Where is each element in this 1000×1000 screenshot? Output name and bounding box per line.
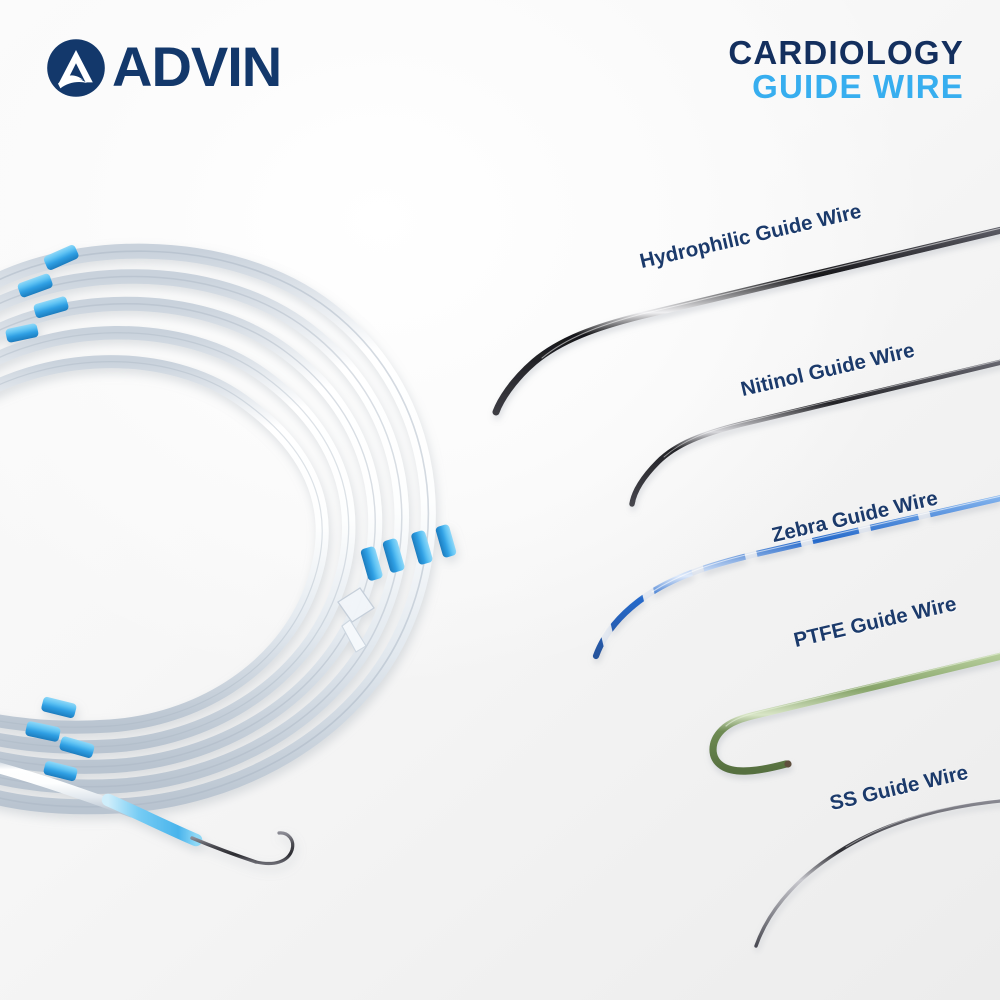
label-zebra-guide-wire: Zebra Guide Wire [770, 486, 941, 548]
wire-ss [756, 798, 1000, 946]
coil-distal-tip [0, 760, 293, 864]
wire-ptfe [713, 651, 1000, 771]
product-marketing-image: ADVIN CARDIOLOGY GUIDE WIRE [0, 0, 1000, 1000]
page-title: CARDIOLOGY GUIDE WIRE [728, 36, 964, 103]
coil-markers-lower [25, 696, 96, 782]
advin-mountain-circle-icon [46, 38, 106, 98]
guide-wire-samples [0, 0, 1000, 1000]
coiled-guide-wire-photo [0, 0, 1000, 1000]
coil-connector-hub [338, 588, 374, 652]
coil-markers-upper [5, 244, 80, 343]
label-ss-guide-wire: SS Guide Wire [828, 761, 971, 816]
coil-markers-right [360, 524, 457, 582]
title-line-guide-wire: GUIDE WIRE [728, 70, 964, 104]
brand-logo: ADVIN [46, 38, 281, 98]
label-ptfe-guide-wire: PTFE Guide Wire [792, 592, 959, 653]
brand-wordmark: ADVIN [112, 39, 281, 95]
title-line-cardiology: CARDIOLOGY [728, 36, 964, 70]
label-nitinol-guide-wire: Nitinol Guide Wire [739, 339, 917, 402]
label-hydrophilic-guide-wire: Hydrophilic Guide Wire [638, 200, 864, 274]
